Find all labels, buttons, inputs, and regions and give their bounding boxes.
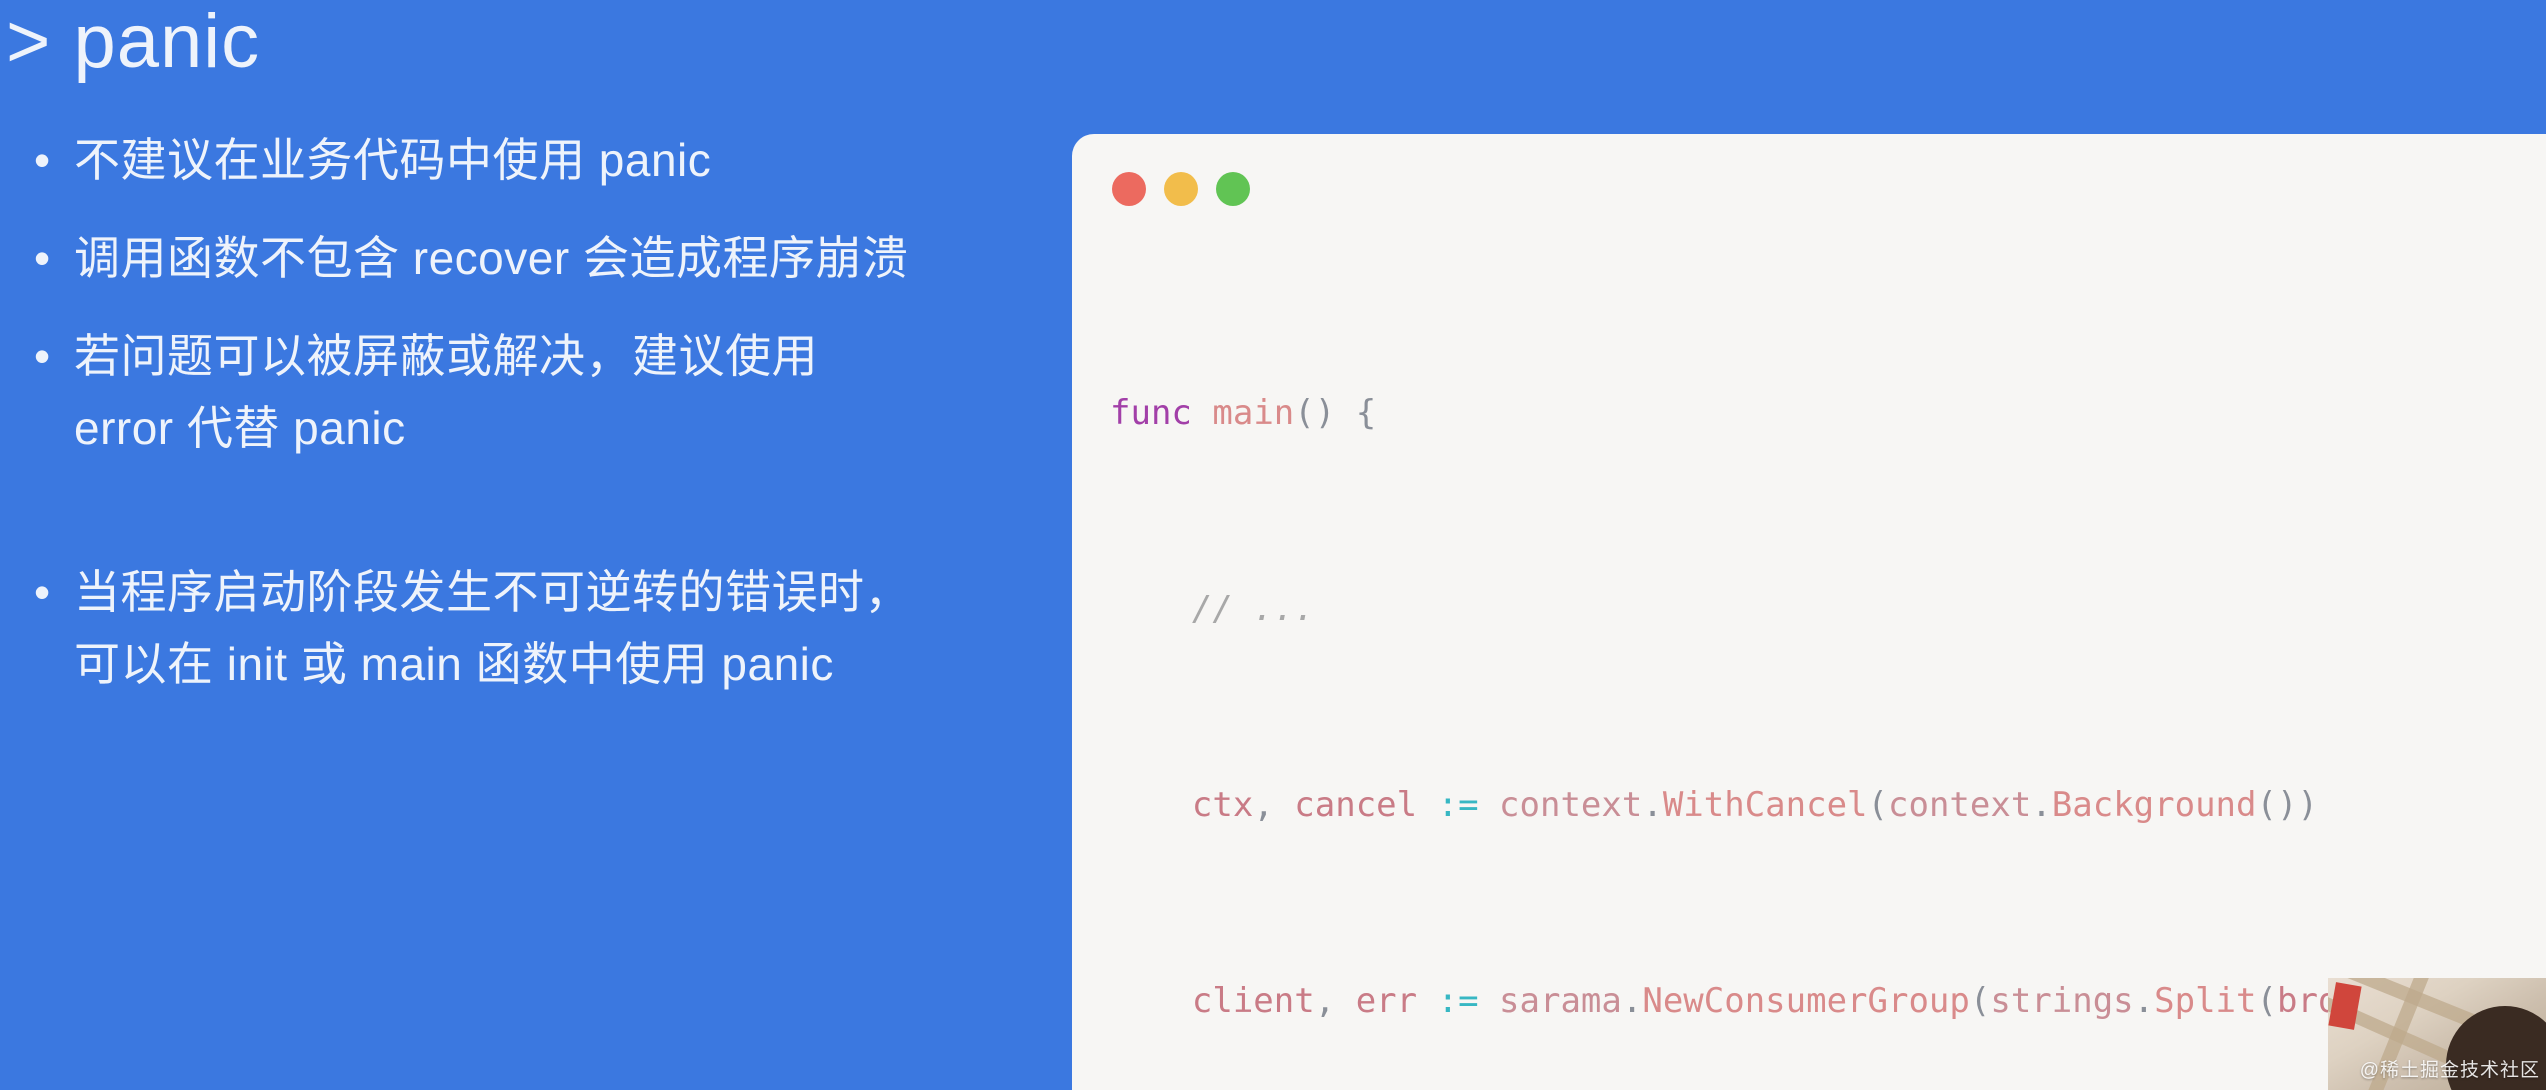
code-window: func main() { // ... ctx, cancel := cont… (1072, 134, 2546, 1090)
bullet-text: 调用函数不包含 recover 会造成程序崩溃 (74, 222, 1072, 294)
watermark-label: @稀土掘金技术社区 (2360, 1060, 2540, 1082)
bullet-dot-icon: • (10, 124, 74, 196)
speaker-thumbnail: @稀土掘金技术社区 (2328, 978, 2546, 1090)
bullet-text: 不建议在业务代码中使用 panic (74, 124, 1072, 196)
slide-root: > panic • 不建议在业务代码中使用 panic • 调用函数不包含 re… (0, 0, 2546, 1090)
bullet-dot-icon: • (10, 556, 74, 628)
bullet-dot-icon: • (10, 320, 74, 392)
slide-left-panel: > panic • 不建议在业务代码中使用 panic • 调用函数不包含 re… (0, 0, 1072, 1090)
page-title: > panic (6, 0, 260, 88)
window-title-bar (1072, 134, 2546, 242)
code-block: func main() { // ... ctx, cancel := cont… (1072, 242, 2546, 1090)
minimize-icon[interactable] (1164, 172, 1198, 206)
bullet-text: 当程序启动阶段发生不可逆转的错误时， 可以在 init 或 main 函数中使用… (74, 556, 1072, 700)
list-item: • 当程序启动阶段发生不可逆转的错误时， 可以在 init 或 main 函数中… (0, 556, 1072, 700)
bullet-dot-icon: • (10, 222, 74, 294)
list-item: • 若问题可以被屏蔽或解决，建议使用 error 代替 panic (0, 320, 1072, 464)
bullet-text: 若问题可以被屏蔽或解决，建议使用 error 代替 panic (74, 320, 1072, 464)
list-item: • 不建议在业务代码中使用 panic (0, 124, 1072, 196)
maximize-icon[interactable] (1216, 172, 1250, 206)
close-icon[interactable] (1112, 172, 1146, 206)
code-line: // ... (1110, 585, 2546, 634)
code-line: func main() { (1110, 389, 2546, 438)
list-item: • 调用函数不包含 recover 会造成程序崩溃 (0, 222, 1072, 294)
bullet-list: • 不建议在业务代码中使用 panic • 调用函数不包含 recover 会造… (0, 124, 1072, 726)
code-line: ctx, cancel := context.WithCancel(contex… (1110, 781, 2546, 830)
